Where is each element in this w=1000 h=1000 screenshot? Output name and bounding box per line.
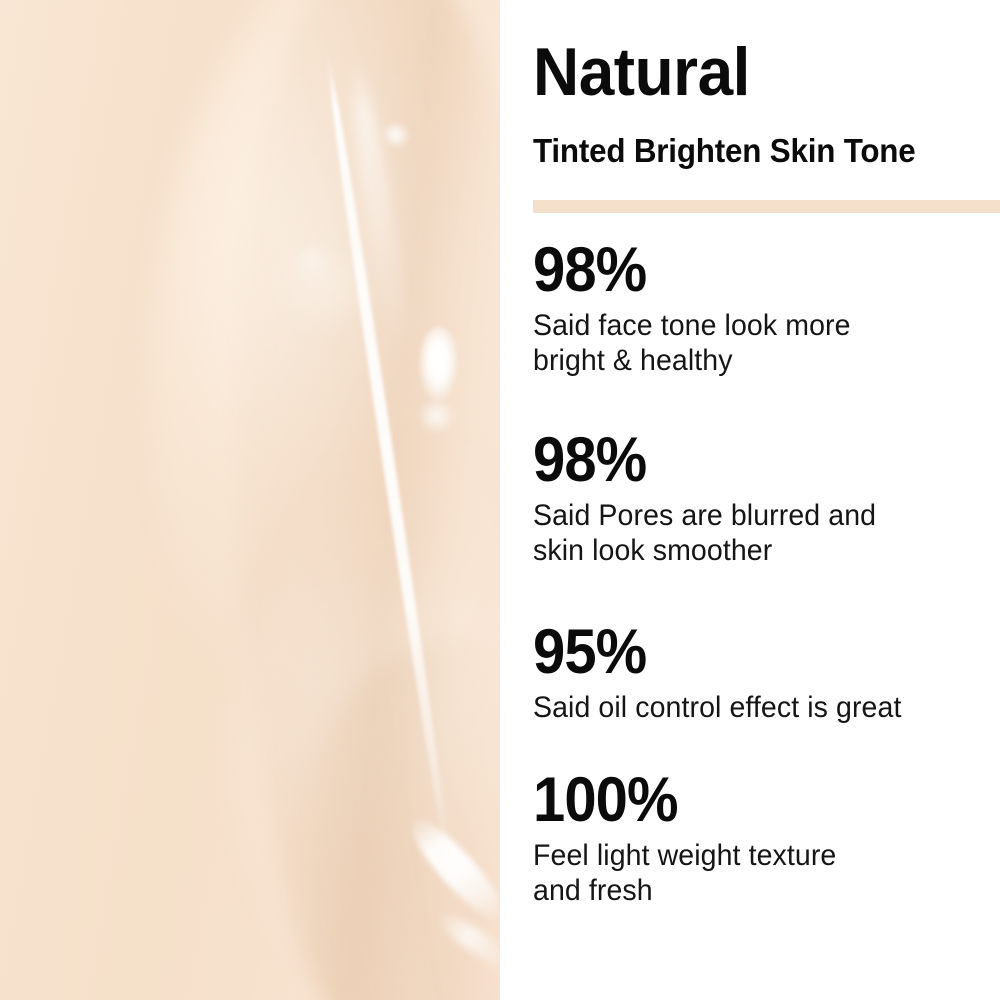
accent-divider <box>533 200 1000 213</box>
claim-description: Said Pores are blurred and skin look smo… <box>533 498 972 568</box>
page-title: Natural <box>533 38 750 106</box>
claim-description: Said oil control effect is great <box>533 690 972 725</box>
claims-text-panel: Natural Tinted Brighten Skin Tone 98% Sa… <box>500 0 1000 1000</box>
product-claims-poster: Natural Tinted Brighten Skin Tone 98% Sa… <box>0 0 1000 1000</box>
claim-item: 100% Feel light weight texture and fresh <box>533 768 995 908</box>
claim-description: Feel light weight texture and fresh <box>533 838 972 908</box>
claim-percentage: 95% <box>533 620 958 684</box>
cream-specular-streak <box>330 48 460 868</box>
page-subtitle: Tinted Brighten Skin Tone <box>533 132 915 170</box>
product-texture-photo <box>0 0 500 1000</box>
claim-item: 95% Said oil control effect is great <box>533 620 995 725</box>
claim-item: 98% Said Pores are blurred and skin look… <box>533 428 995 568</box>
claim-percentage: 98% <box>533 238 958 302</box>
claim-description: Said face tone look more bright & health… <box>533 308 972 378</box>
claim-percentage: 100% <box>533 768 958 832</box>
claim-item: 98% Said face tone look more bright & he… <box>533 238 995 378</box>
cream-highlight-oval-tail <box>416 398 460 438</box>
claim-percentage: 98% <box>533 428 958 492</box>
